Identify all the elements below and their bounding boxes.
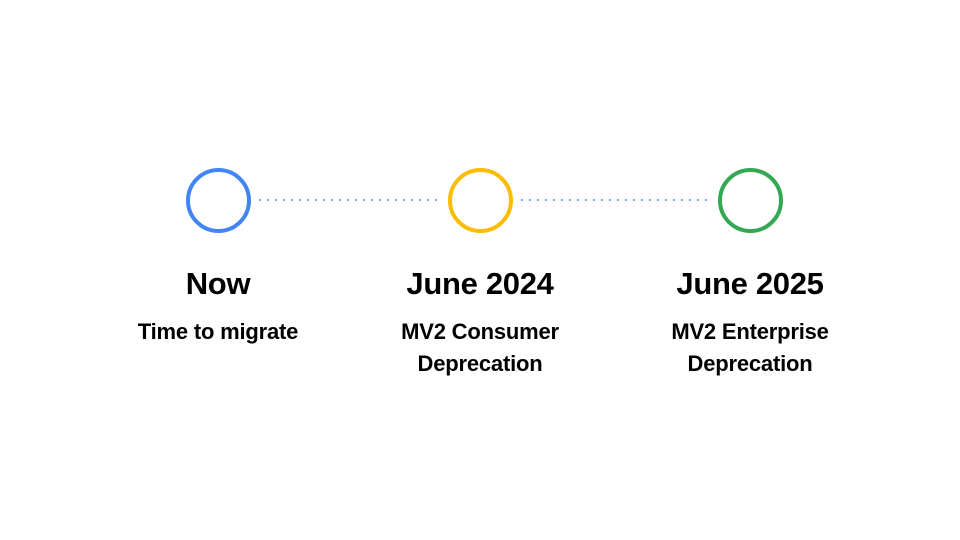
milestone-subtitle: MV2 Consumer Deprecation bbox=[330, 316, 630, 380]
timeline-milestone-june-2025: June 2025 MV2 Enterprise Deprecation bbox=[600, 160, 900, 380]
milestone-subtitle-line: Time to migrate bbox=[68, 316, 368, 348]
milestone-subtitle-line: MV2 Consumer bbox=[330, 316, 630, 348]
milestone-subtitle-line: MV2 Enterprise bbox=[600, 316, 900, 348]
milestone-subtitle-line: Deprecation bbox=[330, 348, 630, 380]
timeline-node-wrap bbox=[68, 160, 368, 240]
circle-outline-icon bbox=[448, 168, 513, 233]
milestone-subtitle-line: Deprecation bbox=[600, 348, 900, 380]
milestone-subtitle: MV2 Enterprise Deprecation bbox=[600, 316, 900, 380]
timeline-diagram: Now Time to migrate June 2024 MV2 Consum… bbox=[0, 0, 960, 540]
milestone-title: June 2024 bbox=[330, 266, 630, 302]
timeline-node-wrap bbox=[600, 160, 900, 240]
circle-outline-icon bbox=[186, 168, 251, 233]
milestone-title: June 2025 bbox=[600, 266, 900, 302]
milestone-title: Now bbox=[68, 266, 368, 302]
timeline-milestone-june-2024: June 2024 MV2 Consumer Deprecation bbox=[330, 160, 630, 380]
timeline-node-wrap bbox=[330, 160, 630, 240]
milestone-subtitle: Time to migrate bbox=[68, 316, 368, 348]
timeline-milestone-now: Now Time to migrate bbox=[68, 160, 368, 348]
circle-outline-icon bbox=[718, 168, 783, 233]
